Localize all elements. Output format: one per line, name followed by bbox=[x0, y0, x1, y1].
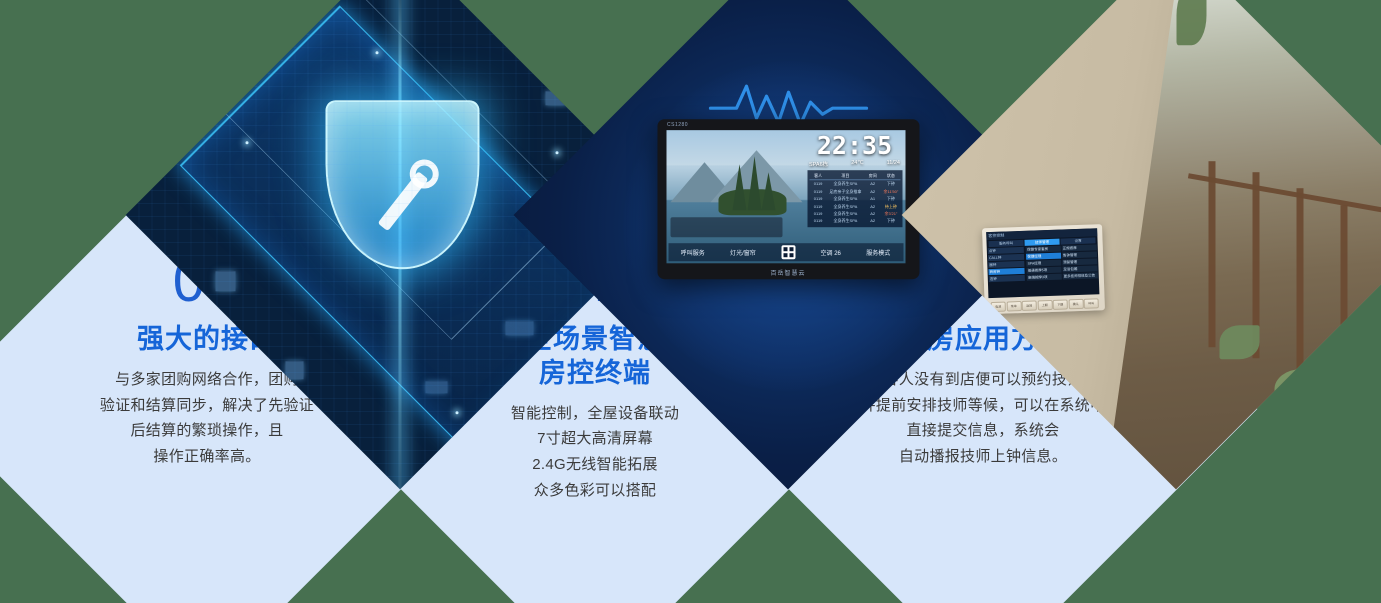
table-row: 0119 全身养生SPA A2 余3'21" bbox=[809, 209, 900, 216]
panel-cell[interactable]: 足浴包厢 bbox=[1063, 265, 1098, 272]
service-table: 客人 项目 房间 状态 0119 全身养生SPA A2 下钟 bbox=[807, 170, 902, 227]
panel-left-item[interactable]: CALL钟 bbox=[988, 254, 1024, 261]
btn-light-curtain[interactable]: 灯光/窗帘 bbox=[730, 247, 756, 256]
clock-time: 22:35 bbox=[807, 133, 902, 158]
tablet-brand-label: CS1280 bbox=[667, 122, 688, 128]
panel-cell[interactable]: 更多技师排班及公告 bbox=[1063, 272, 1098, 279]
panel-button[interactable]: 菜单 bbox=[1006, 300, 1021, 311]
home-icon[interactable] bbox=[781, 245, 795, 259]
panel-cell[interactable]: 售钟管理 bbox=[1062, 251, 1097, 258]
tablet-device: CS1280 22:35 S bbox=[657, 119, 919, 279]
panel-cell[interactable]: 预留管理 bbox=[1062, 258, 1097, 265]
panel-cell[interactable]: SPA经理 bbox=[1027, 259, 1062, 266]
panel-button[interactable]: 呼叫 bbox=[1084, 298, 1099, 309]
table-row: 0119 全身养生SPA A2 待上钟 bbox=[809, 202, 900, 209]
promo-banner: CS1280 22:35 S bbox=[0, 0, 1381, 603]
panel-cell[interactable]: 普通按摩5项 bbox=[1027, 266, 1062, 273]
tablet-bottom-bar: 呼叫服务 灯光/窗帘 空调 26 服务模式 bbox=[668, 243, 903, 261]
clock-widget: 22:35 SPA6栋 24℃ 11/24 bbox=[807, 133, 902, 168]
panel-cell[interactable]: 高端按摩3项 bbox=[1027, 273, 1062, 280]
clock-location: SPA6栋 bbox=[809, 160, 828, 168]
panel-left-item-selected[interactable]: 转房钟 bbox=[989, 268, 1025, 275]
panel-right-grid: 保健专家套房 保健经理 SPA经理 普通按摩5项 高端按摩3项 正规按摩 售钟管… bbox=[1025, 243, 1100, 298]
tablet-screen: 22:35 SPA6栋 24℃ 11/24 客人 项目 房间 bbox=[666, 130, 905, 263]
panel-screen: 客控控制 服务呼叫 技师管理 设置 点钟 CALL钟 圈钟 转房钟 bbox=[987, 228, 1100, 298]
btn-service-mode[interactable]: 服务模式 bbox=[866, 247, 890, 256]
clock-temperature: 24℃ bbox=[851, 160, 863, 168]
shield-icon bbox=[325, 100, 479, 269]
btn-aircon[interactable]: 空调 26 bbox=[821, 247, 841, 256]
table-header-row: 客人 项目 房间 状态 bbox=[809, 172, 900, 180]
panel-cell[interactable]: 正规按摩 bbox=[1062, 244, 1097, 251]
panel-hard-buttons: 电源 菜单 返回 上翻 下翻 确认 呼叫 bbox=[991, 297, 1099, 312]
th-guest: 客人 bbox=[809, 172, 827, 179]
panel-left-list: 点钟 CALL钟 圈钟 转房钟 选钟 bbox=[987, 246, 1027, 298]
table-row: 0119 全身养生SPA A1 下钟 bbox=[809, 195, 900, 202]
panel-button[interactable]: 确认 bbox=[1068, 298, 1083, 309]
card-description: 与多家团购网络合作，团购 验证和结算同步，解决了先验证 后结算的繁琐操作，且 操… bbox=[100, 366, 314, 469]
key-icon bbox=[377, 171, 428, 231]
panel-button[interactable]: 上翻 bbox=[1037, 299, 1052, 310]
table-row: 0119 足底亲子全身推拿 A2 余11'50" bbox=[809, 187, 900, 194]
card-description: 智能控制，全屋设备联动 7寸超大高清屏幕 2.4G无线智能拓展 众多色彩可以搭配 bbox=[511, 400, 679, 503]
panel-left-item[interactable]: 选钟 bbox=[989, 275, 1025, 282]
btn-call-service[interactable]: 呼叫服务 bbox=[681, 247, 705, 256]
panel-left-item[interactable]: 圈钟 bbox=[989, 261, 1025, 268]
tablet-logo: 百岳智慧云 bbox=[657, 268, 919, 277]
th-status: 状态 bbox=[882, 172, 900, 179]
th-item: 项目 bbox=[827, 172, 863, 179]
panel-button[interactable]: 返回 bbox=[1022, 300, 1037, 311]
clock-date: 11/24 bbox=[887, 160, 900, 168]
table-row: 0119 全身养生SPA A2 下钟 bbox=[809, 217, 900, 224]
wall-control-panel[interactable]: 客控控制 服务呼叫 技师管理 设置 点钟 CALL钟 圈钟 转房钟 bbox=[982, 224, 1105, 314]
media-controls[interactable] bbox=[670, 217, 782, 237]
panel-cell[interactable]: 保健专家套房 bbox=[1026, 245, 1061, 252]
th-room: 房间 bbox=[864, 172, 882, 179]
table-row: 0119 全身养生SPA A2 下钟 bbox=[809, 180, 900, 187]
panel-button[interactable]: 下翻 bbox=[1053, 299, 1068, 310]
panel-left-item[interactable]: 点钟 bbox=[988, 247, 1024, 254]
panel-cell-selected[interactable]: 保健经理 bbox=[1027, 252, 1062, 259]
